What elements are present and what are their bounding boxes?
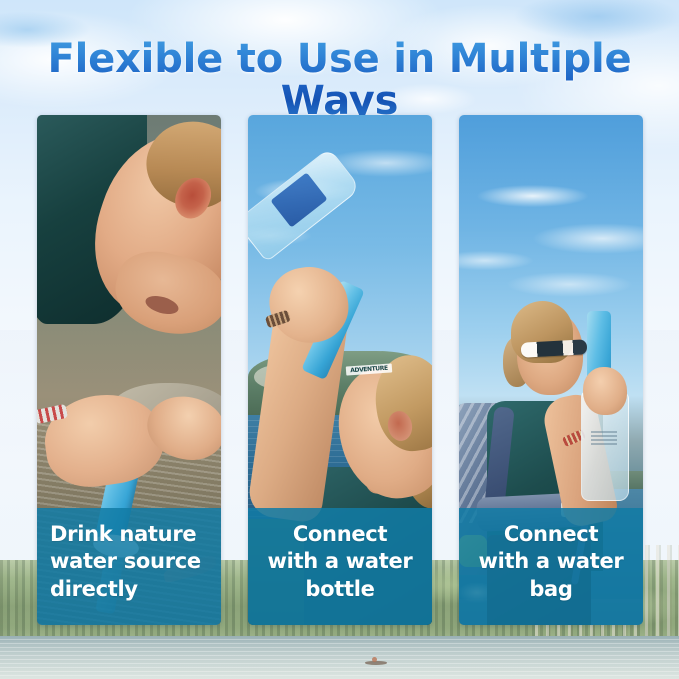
caption-line: bottle [261, 576, 419, 603]
feature-panel-water-bag: Connect with a water bag [459, 115, 643, 625]
caption-line: with a water [472, 548, 630, 575]
caption-line: directly [50, 576, 208, 603]
caption-line: Connect [261, 521, 419, 548]
caption-line: bag [472, 576, 630, 603]
water-bag-print [591, 431, 617, 445]
feature-panel-water-bottle: ADVENTURE Connect with a water bottle [248, 115, 432, 625]
headline-container: Flexible to Use in Multiple Ways [0, 38, 679, 122]
background-boat [365, 661, 387, 665]
panel-caption-3: Connect with a water bag [459, 508, 643, 625]
caption-line: water source [50, 548, 208, 575]
background-lake-ripples [0, 636, 679, 679]
person-hand [583, 367, 627, 415]
feature-panel-drink-nature: Drink nature water source directly [37, 115, 221, 625]
marketing-image-stage: Flexible to Use in Multiple Ways Drink n… [0, 0, 679, 679]
caption-line: with a water [261, 548, 419, 575]
panel-caption-2: Connect with a water bottle [248, 508, 432, 625]
background-boat-person [372, 657, 377, 662]
sky-clouds [459, 145, 643, 315]
panel-caption-1: Drink nature water source directly [37, 508, 221, 625]
caption-line: Connect [472, 521, 630, 548]
page-title: Flexible to Use in Multiple Ways [0, 38, 679, 122]
caption-line: Drink nature [50, 521, 208, 548]
